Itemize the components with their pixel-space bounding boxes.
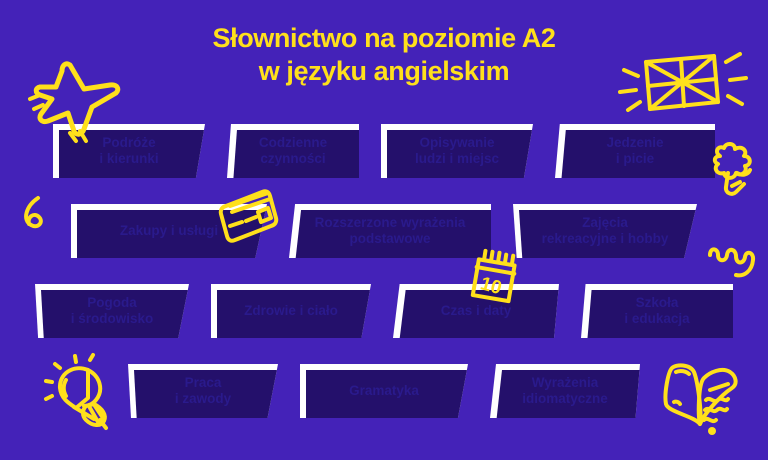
topic-tag-zajecia-rekreacyjne-i-hobby[interactable]: Zajęcia rekreacyjne i hobby bbox=[513, 204, 697, 258]
topic-tag-codzienne-czynnosci[interactable]: Codzienne czynności bbox=[227, 124, 359, 178]
topic-tag-rozszerzone-wyrazenia-podstawowe[interactable]: Rozszerzone wyrażenia podstawowe bbox=[289, 204, 491, 258]
topic-tag-opisywanie-ludzi-i-miejsc[interactable]: Opisywanie ludzi i miejsc bbox=[381, 124, 533, 178]
topic-tag-praca-i-zawody[interactable]: Praca i zawody bbox=[128, 364, 278, 418]
topic-row-4: Praca i zawody Gramatyka Wyrażenia idiom… bbox=[0, 364, 768, 418]
topic-row-2: Zakupy i usługi Rozszerzone wyrażenia po… bbox=[0, 204, 768, 258]
topic-row-3: Pogoda i środowisko Zdrowie i ciało Czas… bbox=[0, 284, 768, 338]
topic-tag-label: Szkoła i edukacja bbox=[624, 295, 689, 327]
topic-tag-label: Zdrowie i ciało bbox=[244, 303, 338, 319]
topic-tag-label: Czas i daty bbox=[441, 303, 512, 319]
topic-tag-label: Jedzenie i picie bbox=[606, 135, 663, 167]
topic-tag-label: Opisywanie ludzi i miejsc bbox=[415, 135, 499, 167]
topic-tag-label: Wyrażenia idiomatyczne bbox=[522, 375, 608, 407]
topic-tag-zdrowie-i-cialo[interactable]: Zdrowie i ciało bbox=[211, 284, 371, 338]
topic-tag-podroze-i-kierunki[interactable]: Podróże i kierunki bbox=[53, 124, 205, 178]
topic-tag-szkola-i-edukacja[interactable]: Szkoła i edukacja bbox=[581, 284, 733, 338]
page-title: Słownictwo na poziomie A2 w języku angie… bbox=[0, 22, 768, 88]
topic-tag-label: Zakupy i usługi bbox=[120, 223, 218, 239]
topic-tag-label: Codzienne czynności bbox=[259, 135, 327, 167]
topic-tag-wyrazenia-idiomatyczne[interactable]: Wyrażenia idiomatyczne bbox=[490, 364, 640, 418]
topic-tag-label: Gramatyka bbox=[349, 383, 419, 399]
topic-tag-jedzenie-i-picie[interactable]: Jedzenie i picie bbox=[555, 124, 715, 178]
poster-canvas: Słownictwo na poziomie A2 w języku angie… bbox=[0, 0, 768, 460]
topic-tag-label: Podróże i kierunki bbox=[99, 135, 158, 167]
topic-tag-czas-i-daty[interactable]: Czas i daty bbox=[393, 284, 559, 338]
topic-tag-label: Rozszerzone wyrażenia podstawowe bbox=[315, 215, 466, 247]
topic-tag-pogoda-i-srodowisko[interactable]: Pogoda i środowisko bbox=[35, 284, 189, 338]
topic-tag-label: Praca i zawody bbox=[175, 375, 231, 407]
topic-tag-zakupy-i-uslugi[interactable]: Zakupy i usługi bbox=[71, 204, 267, 258]
page-title-line-1: Słownictwo na poziomie A2 bbox=[0, 22, 768, 55]
topic-tag-label: Pogoda i środowisko bbox=[71, 295, 154, 327]
topic-tag-gramatyka[interactable]: Gramatyka bbox=[300, 364, 468, 418]
topic-row-1: Podróże i kierunki Codzienne czynności O… bbox=[0, 124, 768, 178]
page-title-line-2: w języku angielskim bbox=[0, 55, 768, 88]
topic-tag-label: Zajęcia rekreacyjne i hobby bbox=[542, 215, 669, 247]
